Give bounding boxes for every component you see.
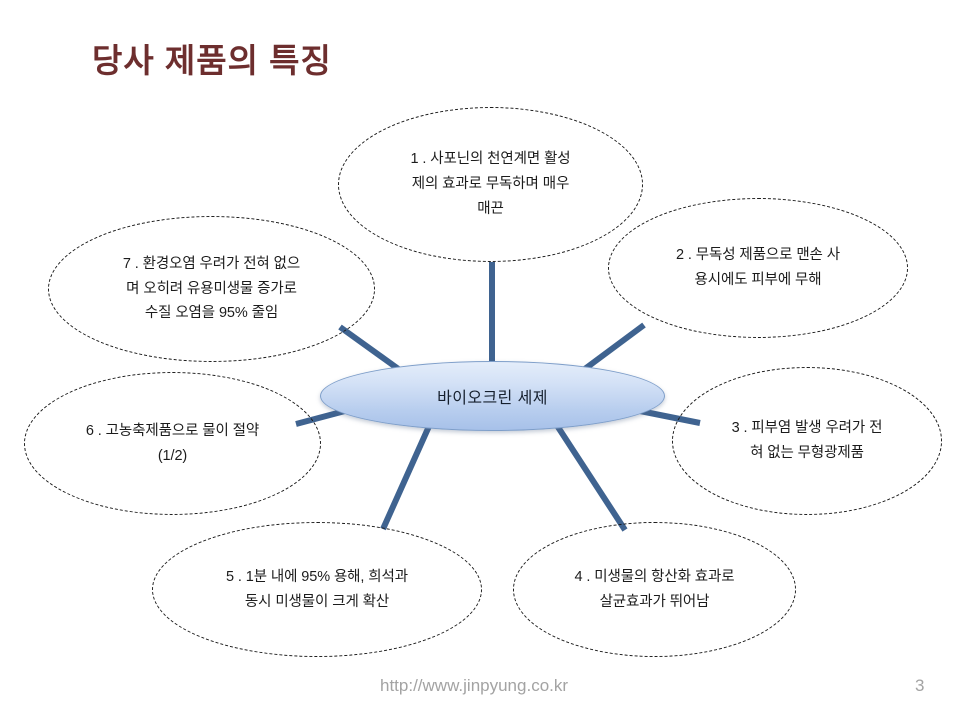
feature-ellipse-5[interactable]: 5 . 1분 내에 95% 용해, 희석과 동시 미생물이 크게 확산	[152, 522, 482, 657]
center-ellipse-label: 바이오크린 세제	[437, 384, 548, 408]
footer-url[interactable]: http://www.jinpyung.co.kr	[380, 676, 568, 696]
feature-ellipse-3[interactable]: 3 . 피부염 발생 우려가 전 혀 없는 무형광제품	[672, 367, 942, 515]
feature-ellipse-1[interactable]: 1 . 사포닌의 천연계면 활성 제의 효과로 무독하며 매우 매끈	[338, 107, 643, 262]
feature-ellipse-1-label: 1 . 사포닌의 천연계면 활성 제의 효과로 무독하며 매우 매끈	[394, 147, 586, 222]
footer-page-number: 3	[915, 676, 924, 696]
feature-ellipse-5-label: 5 . 1분 내에 95% 용해, 희석과 동시 미생물이 크게 확산	[210, 565, 424, 615]
connector-to-node-4	[556, 424, 625, 530]
feature-ellipse-6-label: 6 . 고농축제품으로 물이 절약 (1/2)	[70, 419, 275, 469]
feature-ellipse-7[interactable]: 7 . 환경오염 우려가 전혀 없으 며 오히려 유용미생물 증가로 수질 오염…	[48, 216, 375, 362]
feature-ellipse-4[interactable]: 4 . 미생물의 항산화 효과로 살균효과가 뛰어남	[513, 522, 796, 657]
feature-ellipse-6[interactable]: 6 . 고농축제품으로 물이 절약 (1/2)	[24, 372, 321, 515]
center-ellipse[interactable]: 바이오크린 세제	[320, 361, 665, 431]
connector-to-node-5	[383, 424, 430, 529]
slide-canvas: 당사 제품의 특징 1 . 사포닌의 천연계면 활성 제의 효과로 무독하며 매…	[0, 0, 960, 720]
feature-ellipse-7-label: 7 . 환경오염 우려가 전혀 없으 며 오히려 유용미생물 증가로 수질 오염…	[107, 252, 316, 327]
feature-ellipse-4-label: 4 . 미생물의 항산화 효과로 살균효과가 뛰어남	[558, 565, 750, 615]
feature-ellipse-3-label: 3 . 피부염 발생 우려가 전 혀 없는 무형광제품	[716, 416, 899, 466]
feature-ellipse-2[interactable]: 2 . 무독성 제품으로 맨손 사 용시에도 피부에 무해	[608, 198, 908, 338]
feature-ellipse-2-label: 2 . 무독성 제품으로 맨손 사 용시에도 피부에 무해	[660, 243, 856, 293]
